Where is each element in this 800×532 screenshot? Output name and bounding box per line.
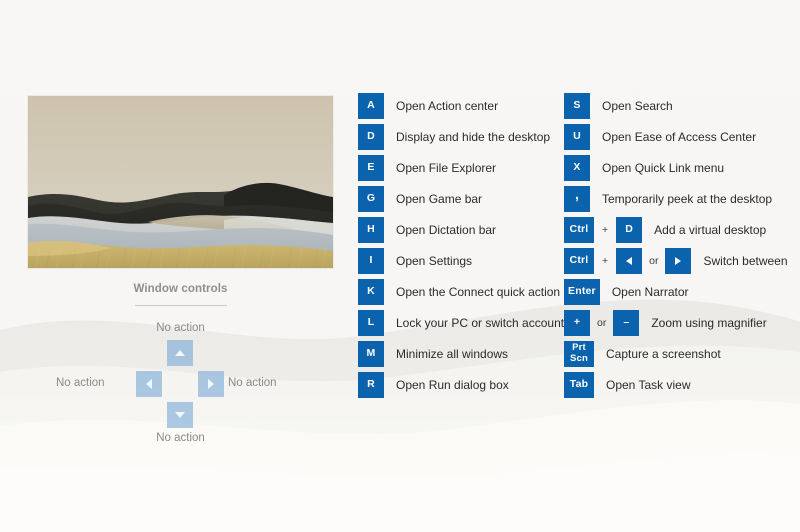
shortcut-row: KOpen the Connect quick action	[358, 276, 558, 307]
keycap-i[interactable]: I	[358, 248, 384, 274]
shortcut-row: ROpen Run dialog box	[358, 369, 558, 400]
keycap-e[interactable]: E	[358, 155, 384, 181]
shortcut-row: XOpen Quick Link menu	[564, 152, 800, 183]
keycap-text: K	[367, 286, 375, 297]
keycap-text: X	[573, 162, 580, 173]
shortcut-description: Open Action center	[396, 100, 498, 112]
keycap-+[interactable]: +	[564, 310, 590, 336]
shortcut-row: EOpen File Explorer	[358, 152, 558, 183]
dpad-left-label: No action	[56, 377, 105, 389]
shortcut-description: Open Search	[602, 100, 673, 112]
key-joiner-or: or	[590, 317, 613, 329]
dpad-left-key[interactable]	[136, 371, 162, 397]
shortcut-row: MMinimize all windows	[358, 338, 558, 369]
keycap-–[interactable]: –	[613, 310, 639, 336]
keycap-h[interactable]: H	[358, 217, 384, 243]
keycap-text: ,	[575, 187, 579, 201]
shortcut-description: Open Dictation bar	[396, 224, 496, 236]
keycap-text: L	[368, 317, 375, 328]
shortcut-row: TabOpen Task view	[564, 369, 800, 400]
shortcut-description: Lock your PC or switch accounts	[396, 317, 570, 329]
shortcut-description: Open File Explorer	[396, 162, 496, 174]
window-controls-title: Window controls	[28, 282, 333, 295]
keycap-text: Enter	[568, 286, 596, 297]
shortcut-description: Zoom using magnifier	[651, 317, 766, 329]
key-joiner-or: or	[642, 255, 665, 267]
dpad-down-key[interactable]	[167, 402, 193, 428]
key-joiner-plus: +	[594, 255, 616, 267]
keycap-text: S	[573, 100, 580, 111]
dpad-down-label: No action	[28, 432, 333, 444]
shortcut-row: GOpen Game bar	[358, 183, 558, 214]
shortcut-description: Open Settings	[396, 255, 472, 267]
shortcut-description: Open Task view	[606, 379, 691, 391]
shortcut-row: ,Temporarily peek at the desktop	[564, 183, 800, 214]
keycap-text: U	[573, 131, 581, 142]
window-controls-dpad: No action No action No action No action	[28, 310, 333, 438]
keycap-m[interactable]: M	[358, 341, 384, 367]
shortcut-description: Open Narrator	[612, 286, 689, 298]
shortcut-row: DDisplay and hide the desktop	[358, 121, 558, 152]
keycap-text: Tab	[570, 379, 589, 390]
keycap-prt-scn[interactable]: PrtScn	[564, 341, 594, 367]
window-controls-divider	[135, 305, 227, 306]
keycap-d[interactable]: D	[616, 217, 642, 243]
arrow-right-icon	[208, 379, 214, 389]
arrow-down-icon	[175, 412, 185, 418]
shortcut-row: Ctrl+DAdd a virtual desktop	[564, 214, 800, 245]
keycap-x[interactable]: X	[564, 155, 590, 181]
shortcut-description: Capture a screenshot	[606, 348, 721, 360]
keycap-g[interactable]: G	[358, 186, 384, 212]
shortcut-description: Switch between	[703, 255, 787, 267]
shortcut-row: +or–Zoom using magnifier	[564, 307, 800, 338]
shortcut-row: SOpen Search	[564, 90, 800, 121]
shortcut-row: LLock your PC or switch accounts	[358, 307, 558, 338]
shortcuts-right-column: SOpen SearchUOpen Ease of Access CenterX…	[564, 90, 800, 400]
keycap-text: +	[574, 317, 580, 328]
dpad-up-key[interactable]	[167, 340, 193, 366]
keycap-text: I	[369, 255, 372, 266]
shortcut-description: Open Ease of Access Center	[602, 131, 756, 143]
keycap-text: M	[367, 348, 376, 359]
shortcut-description: Display and hide the desktop	[396, 131, 550, 143]
keycap-l[interactable]: L	[358, 310, 384, 336]
shortcut-row: EnterOpen Narrator	[564, 276, 800, 307]
shortcut-description: Open Quick Link menu	[602, 162, 724, 174]
shortcuts-left-column: AOpen Action centerDDisplay and hide the…	[358, 90, 558, 400]
keycap-text: R	[367, 379, 375, 390]
keycap-,[interactable]: ,	[564, 186, 590, 212]
keycap-text: G	[367, 193, 375, 204]
keycap-text: D	[367, 131, 375, 142]
dpad-right-label: No action	[228, 377, 277, 389]
shortcut-description: Minimize all windows	[396, 348, 508, 360]
shortcut-row: UOpen Ease of Access Center	[564, 121, 800, 152]
keycap-text: E	[367, 162, 374, 173]
shortcut-description: Temporarily peek at the desktop	[602, 193, 772, 205]
keycap-text: A	[367, 100, 375, 111]
keycap-text: Prt	[572, 343, 586, 353]
keycap-text: Scn	[570, 354, 588, 364]
dpad-right-key[interactable]	[198, 371, 224, 397]
keycap-text: Ctrl	[570, 224, 589, 235]
keycap-text: H	[367, 224, 375, 235]
keycap-text: Ctrl	[570, 255, 589, 266]
arrow-left-icon	[626, 257, 632, 265]
keycap-k[interactable]: K	[358, 279, 384, 305]
dpad-up-label: No action	[28, 322, 333, 334]
shortcut-row: Ctrl+orSwitch between	[564, 245, 800, 276]
shortcut-description: Open Game bar	[396, 193, 482, 205]
shortcut-row: HOpen Dictation bar	[358, 214, 558, 245]
keycap-d[interactable]: D	[358, 124, 384, 150]
wallpaper-preview-thumbnail[interactable]	[28, 96, 333, 268]
shortcut-description: Add a virtual desktop	[654, 224, 766, 236]
keycap-ctrl[interactable]: Ctrl	[564, 248, 594, 274]
arrow-up-icon	[175, 350, 185, 356]
arrow-left-keycap[interactable]	[616, 248, 642, 274]
wallpaper-image	[28, 96, 333, 268]
shortcut-row: IOpen Settings	[358, 245, 558, 276]
arrow-right-keycap[interactable]	[665, 248, 691, 274]
shortcut-row: PrtScnCapture a screenshot	[564, 338, 800, 369]
keycap-u[interactable]: U	[564, 124, 590, 150]
keycap-text: D	[625, 224, 633, 235]
keycap-enter[interactable]: Enter	[564, 279, 600, 305]
keycap-a[interactable]: A	[358, 93, 384, 119]
shortcut-description: Open the Connect quick action	[396, 286, 560, 298]
shortcut-description: Open Run dialog box	[396, 379, 509, 391]
arrow-left-icon	[146, 379, 152, 389]
keycap-ctrl[interactable]: Ctrl	[564, 217, 594, 243]
shortcut-row: AOpen Action center	[358, 90, 558, 121]
key-joiner-plus: +	[594, 224, 616, 236]
window-controls-section: Window controls No action No action No a…	[28, 282, 333, 442]
keycap-text: –	[623, 317, 629, 328]
keycap-s[interactable]: S	[564, 93, 590, 119]
keycap-tab[interactable]: Tab	[564, 372, 594, 398]
keycap-r[interactable]: R	[358, 372, 384, 398]
arrow-right-icon	[675, 257, 681, 265]
